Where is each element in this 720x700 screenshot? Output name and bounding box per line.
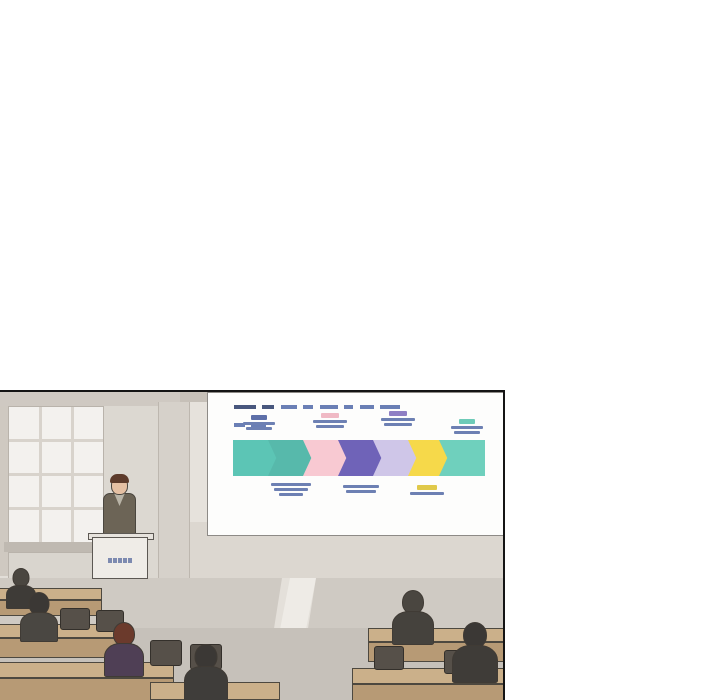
chair-back bbox=[150, 640, 182, 666]
projection-screen bbox=[207, 392, 505, 536]
chair-back bbox=[374, 646, 404, 670]
process-chevron-diagram bbox=[233, 440, 485, 476]
student-torso bbox=[392, 611, 434, 645]
student-5 bbox=[392, 590, 434, 644]
window-mullion bbox=[9, 507, 103, 510]
student-6 bbox=[452, 622, 498, 680]
student-2 bbox=[20, 592, 58, 640]
screen-callout-above-3 bbox=[380, 411, 416, 428]
chair-back bbox=[60, 608, 90, 630]
screen-callout-above-4 bbox=[450, 419, 484, 436]
window-mullion bbox=[9, 439, 103, 442]
screen-header-text bbox=[234, 398, 404, 403]
desk-front-panel bbox=[352, 684, 505, 700]
presenter-hair bbox=[110, 474, 129, 483]
student-torso bbox=[452, 645, 498, 683]
screen-callout-above-2 bbox=[312, 413, 348, 430]
student-torso bbox=[184, 666, 228, 700]
screen-callout-below-2 bbox=[342, 485, 380, 495]
wall-pillar bbox=[158, 402, 190, 578]
student-4 bbox=[184, 644, 228, 700]
window-wall bbox=[8, 406, 104, 544]
window-mullion bbox=[9, 473, 103, 476]
screen-callout-above-1 bbox=[242, 415, 276, 432]
student-3 bbox=[104, 622, 144, 674]
lectern-controls bbox=[108, 550, 134, 556]
screen-callout-below-1 bbox=[270, 483, 312, 498]
student-torso bbox=[104, 643, 144, 677]
desk bbox=[0, 662, 174, 678]
desk-front-panel bbox=[0, 678, 174, 700]
screen-callout-below-3 bbox=[408, 485, 446, 497]
student-torso bbox=[20, 612, 58, 642]
scene-canvas bbox=[0, 0, 720, 700]
lecture-hall-illustration bbox=[0, 390, 505, 700]
